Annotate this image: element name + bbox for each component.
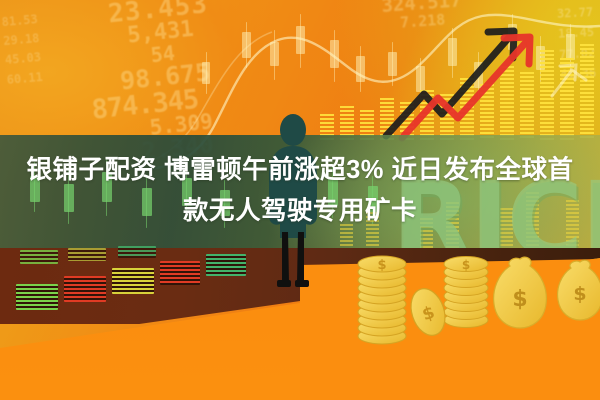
svg-text:$: $: [573, 283, 586, 305]
banner-image: 23.453 5,431 54 98.675 874.345 5.309 2.3…: [0, 0, 600, 400]
coins-and-money-bags: $ $ $ $ $: [350, 250, 600, 360]
coin-stack-right: $: [444, 257, 488, 328]
svg-text:$: $: [512, 287, 527, 312]
tilted-coin: $: [405, 284, 450, 340]
coin-stack-left: $: [358, 256, 406, 344]
person-silhouette: [258, 112, 328, 290]
money-bag-right: $: [558, 260, 600, 320]
svg-text:$: $: [377, 258, 386, 273]
money-bag-left: $: [494, 257, 547, 328]
svg-text:$: $: [462, 258, 470, 272]
